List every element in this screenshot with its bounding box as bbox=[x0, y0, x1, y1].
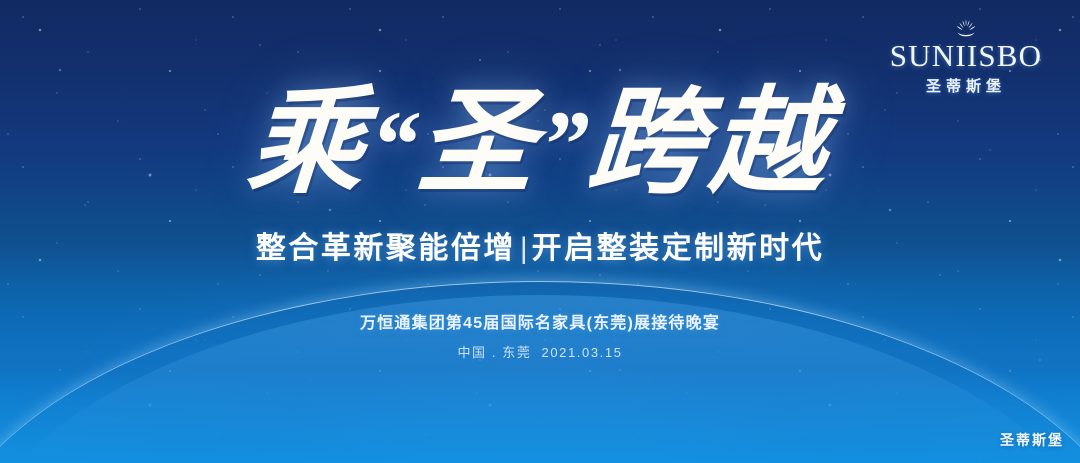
horizon-arc-line bbox=[0, 281, 1080, 463]
watermark: 圣蒂斯堡 bbox=[1000, 431, 1064, 449]
lotus-sunburst-icon bbox=[886, 18, 1046, 38]
event-banner: SUNIISBO 圣蒂斯堡 乘“圣”跨越 整合革新聚能倍增|开启整装定制新时代 … bbox=[0, 0, 1080, 463]
headline-keyword: 圣 bbox=[414, 80, 545, 208]
event-meta: 中国 . 东莞2021.03.15 bbox=[0, 344, 1080, 362]
brand-wordmark: SUNIISBO bbox=[886, 39, 1046, 73]
headline-quote-close: ” bbox=[536, 90, 591, 197]
subtitle-left: 整合革新聚能倍增 bbox=[256, 232, 516, 265]
event-date: 2021.03.15 bbox=[541, 345, 622, 360]
headline: 乘“圣”跨越 bbox=[0, 84, 1080, 204]
subtitle: 整合革新聚能倍增|开启整装定制新时代 bbox=[0, 230, 1080, 268]
headline-lead: 乘 bbox=[244, 80, 375, 208]
subtitle-right: 开启整装定制新时代 bbox=[532, 232, 825, 265]
subtitle-divider: | bbox=[520, 232, 528, 265]
horizon-arc bbox=[0, 281, 1080, 463]
headline-tail: 跨越 bbox=[584, 80, 837, 208]
headline-quote-open: “ bbox=[366, 90, 421, 197]
event-title: 万恒通集团第45届国际名家具(东莞)展接待晚宴 bbox=[0, 313, 1080, 335]
event-location: 中国 . 东莞 bbox=[457, 345, 531, 360]
